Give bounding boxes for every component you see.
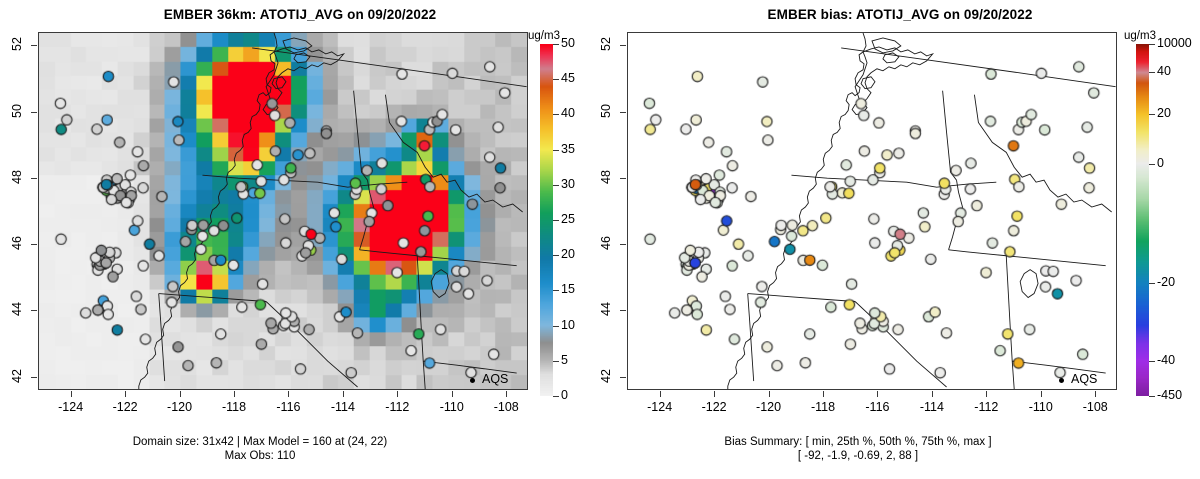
colorbar-tick	[1149, 396, 1155, 397]
panel-bias-caption-line2: [ -92, -1.9, -0.69, 2, 88 ]	[558, 450, 1158, 464]
x-axis-tick	[234, 391, 235, 397]
colorbar-tick	[1149, 114, 1155, 115]
y-axis-tick	[31, 244, 37, 245]
panel-bias-plot-area	[627, 32, 1117, 390]
panel-model-colorbar	[540, 44, 553, 396]
x-axis-tick	[714, 391, 715, 397]
x-axis-tick	[71, 391, 72, 397]
x-axis-tick-label: -112	[374, 400, 420, 414]
x-axis-tick-label: -114	[320, 400, 366, 414]
x-axis-tick-label: -112	[963, 400, 1009, 414]
colorbar-tick-label: 20	[561, 247, 575, 261]
colorbar-tick	[553, 44, 559, 45]
x-axis-tick-label: -116	[854, 400, 900, 414]
x-axis-tick-label: -108	[1072, 400, 1118, 414]
x-axis-tick	[986, 391, 987, 397]
x-axis-tick	[932, 391, 933, 397]
panel-model-caption-line1: Domain size: 31x42 | Max Model = 160 at …	[0, 436, 560, 450]
y-axis-tick	[31, 178, 37, 179]
colorbar-tick	[553, 185, 559, 186]
x-axis-tick-label: -124	[48, 400, 94, 414]
x-axis-tick	[288, 391, 289, 397]
colorbar-tick	[1149, 164, 1155, 165]
x-axis-tick-label: -108	[483, 400, 529, 414]
y-axis-tick	[31, 45, 37, 46]
y-axis-tick-label: 48	[10, 162, 24, 192]
colorbar-tick-label: 30	[561, 177, 575, 191]
x-axis-tick	[823, 391, 824, 397]
colorbar-tick	[553, 290, 559, 291]
panel-model-title: EMBER 36km: ATOTIJ_AVG on 09/20/2022	[0, 7, 600, 22]
x-axis-tick-label: -120	[746, 400, 792, 414]
colorbar-tick-label: 40	[1157, 64, 1171, 78]
x-axis-tick	[180, 391, 181, 397]
x-axis-tick-label: -122	[102, 400, 148, 414]
colorbar-tick-label: 0	[1157, 156, 1164, 170]
x-axis-tick	[397, 391, 398, 397]
x-axis-tick	[877, 391, 878, 397]
y-axis-tick	[31, 377, 37, 378]
x-axis-tick-label: -122	[691, 400, 737, 414]
y-axis-tick-label: 50	[10, 96, 24, 126]
aqs-legend-label: AQS	[1071, 372, 1097, 386]
y-axis-tick	[31, 112, 37, 113]
panel-bias-colorbar	[1136, 44, 1149, 396]
y-axis-tick-label: 52	[599, 29, 613, 59]
y-axis-tick-label: 52	[10, 29, 24, 59]
colorbar-tick-label: 0	[561, 388, 568, 402]
colorbar-tick-label: -40	[1157, 353, 1175, 367]
x-axis-tick	[1041, 391, 1042, 397]
x-axis-tick-label: -118	[211, 400, 257, 414]
x-axis-tick-label: -116	[265, 400, 311, 414]
colorbar-tick-label: -450	[1157, 388, 1182, 402]
colorbar-tick-label: 5	[561, 353, 568, 367]
colorbar-tick	[553, 255, 559, 256]
aqs-bias-markers	[628, 33, 1116, 389]
aqs-observation-markers	[39, 33, 527, 389]
colorbar-tick	[1149, 72, 1155, 73]
colorbar-tick	[553, 361, 559, 362]
x-axis-tick	[769, 391, 770, 397]
y-axis-tick	[620, 244, 626, 245]
x-axis-tick	[343, 391, 344, 397]
colorbar-tick	[553, 396, 559, 397]
y-axis-tick-label: 50	[599, 96, 613, 126]
panel-bias-caption-line1: Bias Summary: [ min, 25th %, 50th %, 75t…	[558, 436, 1158, 450]
y-axis-tick-label: 44	[10, 294, 24, 324]
colorbar-tick-label: 10	[561, 318, 575, 332]
figure-root: EMBER 36km: ATOTIJ_AVG on 09/20/2022 AQS…	[0, 0, 1200, 479]
y-axis-tick	[620, 112, 626, 113]
colorbar-tick-label: 40	[561, 106, 575, 120]
aqs-legend-dot	[1059, 378, 1064, 383]
x-axis-tick	[125, 391, 126, 397]
aqs-legend-dot	[470, 378, 475, 383]
y-axis-tick-label: 42	[599, 361, 613, 391]
y-axis-tick-label: 46	[10, 228, 24, 258]
colorbar-tick	[553, 220, 559, 221]
x-axis-tick-label: -110	[429, 400, 475, 414]
y-axis-tick-label: 48	[599, 162, 613, 192]
panel-model-plot-area	[38, 32, 528, 390]
panel-bias-colorbar-units: ug/m3	[1124, 30, 1156, 42]
x-axis-tick	[452, 391, 453, 397]
colorbar-tick	[553, 326, 559, 327]
colorbar-tick	[553, 79, 559, 80]
panel-model-caption-line2: Max Obs: 110	[0, 450, 560, 464]
x-axis-tick	[660, 391, 661, 397]
x-axis-tick-label: -124	[637, 400, 683, 414]
aqs-legend-label: AQS	[482, 372, 508, 386]
colorbar-tick-label: 50	[561, 36, 575, 50]
y-axis-tick	[620, 377, 626, 378]
x-axis-tick-label: -120	[157, 400, 203, 414]
x-axis-tick	[1095, 391, 1096, 397]
y-axis-tick	[31, 310, 37, 311]
colorbar-tick-label: 20	[1157, 106, 1171, 120]
x-axis-tick-label: -118	[800, 400, 846, 414]
panel-model: EMBER 36km: ATOTIJ_AVG on 09/20/2022 AQS…	[0, 0, 600, 479]
y-axis-tick	[620, 178, 626, 179]
colorbar-tick	[553, 150, 559, 151]
y-axis-tick	[620, 45, 626, 46]
y-axis-tick-label: 42	[10, 361, 24, 391]
colorbar-tick	[553, 114, 559, 115]
y-axis-tick-label: 46	[599, 228, 613, 258]
panel-bias-title: EMBER bias: ATOTIJ_AVG on 09/20/2022	[600, 7, 1200, 22]
y-axis-tick	[620, 310, 626, 311]
x-axis-tick-label: -110	[1018, 400, 1064, 414]
colorbar-tick-label: 10000	[1157, 36, 1192, 50]
colorbar-tick-label: 45	[561, 71, 575, 85]
colorbar-tick-label: 15	[561, 282, 575, 296]
colorbar-tick	[1149, 361, 1155, 362]
panel-model-colorbar-units: ug/m3	[528, 30, 560, 42]
colorbar-tick-label: -20	[1157, 275, 1175, 289]
y-axis-tick-label: 44	[599, 294, 613, 324]
colorbar-tick-label: 25	[561, 212, 575, 226]
x-axis-tick-label: -114	[909, 400, 955, 414]
colorbar-tick	[1149, 283, 1155, 284]
colorbar-tick	[1149, 44, 1155, 45]
colorbar-tick-label: 35	[561, 142, 575, 156]
x-axis-tick	[506, 391, 507, 397]
panel-bias: EMBER bias: ATOTIJ_AVG on 09/20/2022 AQS…	[600, 0, 1200, 479]
